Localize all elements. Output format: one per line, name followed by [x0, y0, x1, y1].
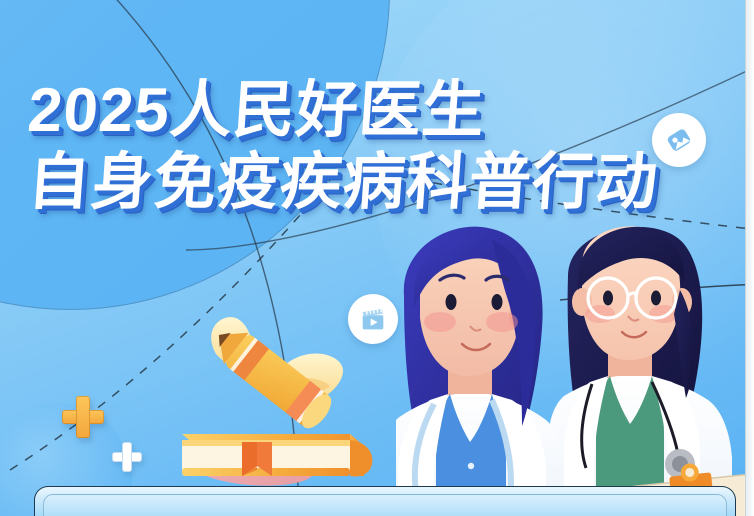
eye: [446, 294, 457, 310]
plus-icon: [62, 396, 104, 438]
right-edge-border: [745, 0, 754, 516]
photo-badge[interactable]: [652, 113, 706, 167]
eye: [651, 291, 661, 306]
poster-banner: 2025人民好医生 自身免疫疾病科普行动: [0, 0, 754, 516]
clapperboard-icon: [358, 304, 388, 334]
headline-line-2: 自身免疫疾病科普行动: [26, 150, 661, 216]
plus-icon: [112, 442, 142, 472]
doctors-illustration: [396, 218, 754, 516]
doctor-illustration-left: [396, 227, 564, 516]
eye: [492, 294, 503, 310]
headline-line-1: 2025人民好医生: [26, 78, 661, 144]
eye: [603, 291, 613, 306]
bottom-stage-panel: [34, 486, 736, 516]
book-icon: [182, 434, 372, 477]
doctor-illustration-right: [546, 226, 753, 516]
bottom-stage-panel-inner: [43, 494, 727, 516]
page-title: 2025人民好医生 自身免疫疾病科普行动: [28, 78, 658, 215]
image-icon: [663, 124, 695, 156]
video-badge[interactable]: [348, 294, 398, 344]
